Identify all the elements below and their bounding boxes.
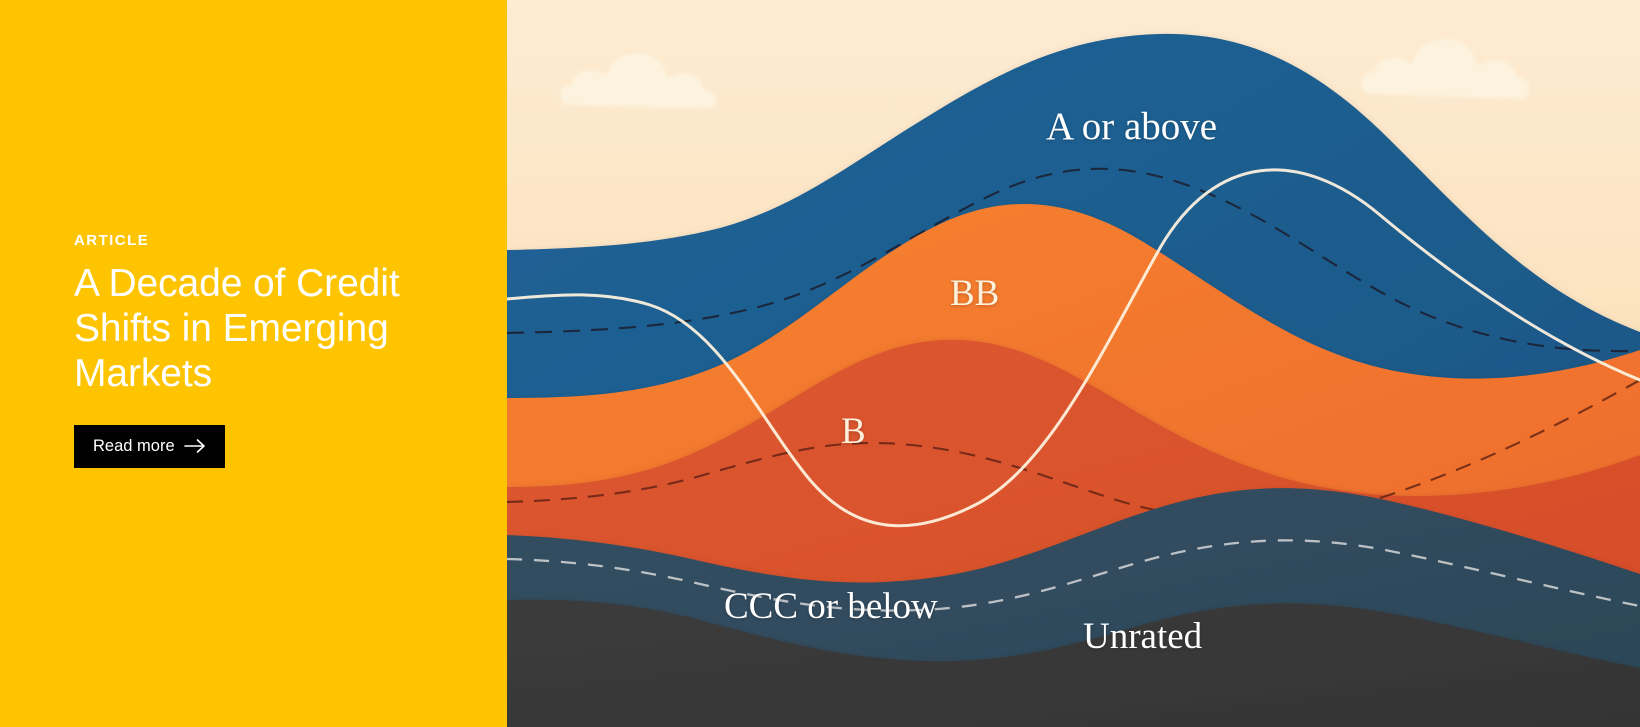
promo-content: ARTICLE A Decade of Credit Shifts in Eme…: [74, 233, 474, 468]
arrow-right-icon: [184, 439, 206, 453]
hero-banner: A or above BB B CCC or below Unrated ART…: [0, 0, 1640, 727]
page-title: A Decade of Credit Shifts in Emerging Ma…: [74, 261, 454, 396]
read-more-label: Read more: [93, 438, 175, 455]
promo-panel: ARTICLE A Decade of Credit Shifts in Eme…: [0, 0, 507, 727]
article-eyebrow-label: ARTICLE: [74, 233, 474, 250]
read-more-button[interactable]: Read more: [74, 425, 225, 469]
